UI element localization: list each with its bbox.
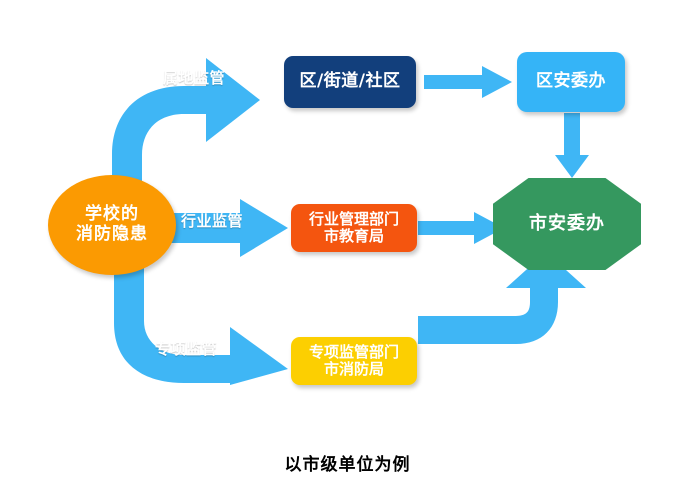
arrow-label-industry: 行业监管 <box>181 210 243 231</box>
node-industry-management-department[interactable]: 行业管理部门 市教育局 <box>291 204 417 252</box>
arrow-special-dept-to-city-office-shape <box>418 266 608 376</box>
arrow-district-office-to-city-office <box>555 113 589 179</box>
diagram-caption: 以市级单位为例 <box>0 450 695 475</box>
node-school-fire-hazard[interactable]: 学校的 消防隐患 <box>48 175 176 275</box>
arrow-label-special: 专项监管 <box>155 338 217 359</box>
arrow-special-arrowhead <box>102 265 292 387</box>
node-district-safety-committee-office[interactable]: 区安委办 <box>517 52 625 112</box>
diagram-canvas: 属地监管 行业监管 专项监管 学校的 消防隐患 区/街道/社区 区安委办 行业管… <box>0 0 695 489</box>
arrow-industry-dept-to-city-office <box>418 212 506 244</box>
arrow-district-to-district-office <box>424 66 514 98</box>
arrow-label-territorial: 属地监管 <box>163 67 225 88</box>
node-city-safety-committee-office[interactable]: 市安委办 <box>493 178 641 270</box>
node-special-supervision-department[interactable]: 专项监管部门 市消防局 <box>291 337 417 385</box>
node-district-street-community[interactable]: 区/街道/社区 <box>284 56 416 108</box>
